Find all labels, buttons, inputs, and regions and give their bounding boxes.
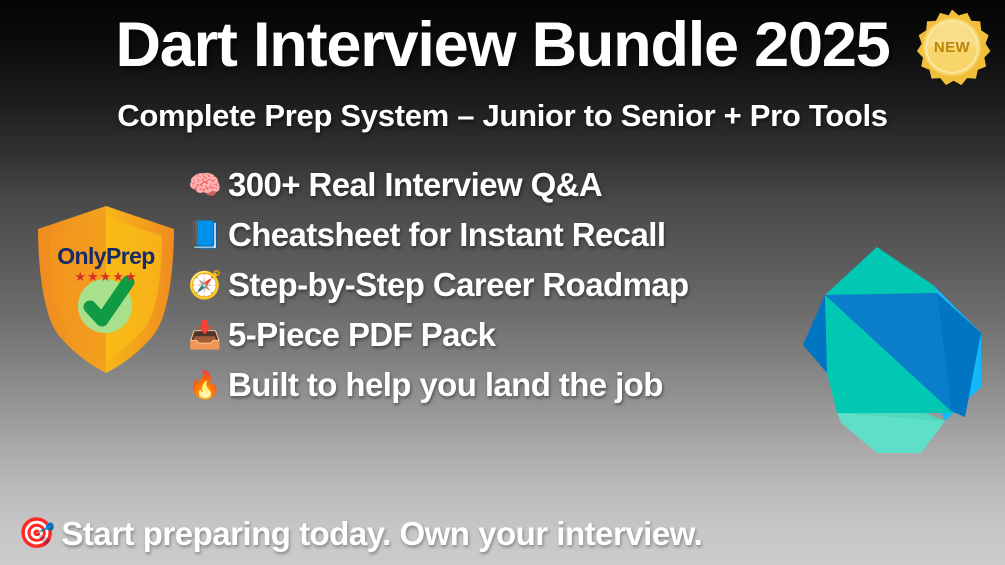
target-icon: 🎯 xyxy=(18,519,55,549)
shield-icon xyxy=(32,203,180,375)
cta-banner: 🎯 Start preparing today. Own your interv… xyxy=(18,515,702,553)
compass-icon: 🧭 xyxy=(188,272,219,299)
feature-item-cheatsheet: 📘 Cheatsheet for Instant Recall xyxy=(188,210,848,260)
feature-item-roadmap: 🧭 Step-by-Step Career Roadmap xyxy=(188,260,848,310)
feature-item-qa: 🧠 300+ Real Interview Q&A xyxy=(188,160,848,210)
promo-banner: Dart Interview Bundle 2025 Complete Prep… xyxy=(0,0,1005,565)
page-subtitle: Complete Prep System – Junior to Senior … xyxy=(0,98,1005,134)
feature-item-land-the-job: 🔥 Built to help you land the job xyxy=(188,360,848,410)
cta-text: Start preparing today. Own your intervie… xyxy=(61,515,702,553)
blue-book-icon: 📘 xyxy=(188,222,219,249)
brand-shield: OnlyPrep ★★★★★ xyxy=(32,203,180,375)
fire-icon: 🔥 xyxy=(188,372,219,399)
feature-label: 300+ Real Interview Q&A xyxy=(228,166,602,204)
feature-label: Step-by-Step Career Roadmap xyxy=(228,266,689,304)
feature-label: 5-Piece PDF Pack xyxy=(228,316,495,354)
new-badge-label: NEW xyxy=(913,8,991,86)
new-badge: NEW xyxy=(913,8,991,86)
brand-stars: ★★★★★ xyxy=(32,269,180,285)
feature-label: Cheatsheet for Instant Recall xyxy=(228,216,665,254)
feature-list: 🧠 300+ Real Interview Q&A 📘 Cheatsheet f… xyxy=(188,160,848,410)
page-title: Dart Interview Bundle 2025 xyxy=(0,9,1005,81)
brand-name: OnlyPrep xyxy=(32,243,180,270)
feature-label: Built to help you land the job xyxy=(228,366,663,404)
feature-item-pdf-pack: 📥 5-Piece PDF Pack xyxy=(188,310,848,360)
brain-icon: 🧠 xyxy=(188,172,219,199)
inbox-tray-icon: 📥 xyxy=(188,322,219,349)
dart-language-logo xyxy=(785,245,985,460)
dart-logo-icon xyxy=(785,245,985,460)
